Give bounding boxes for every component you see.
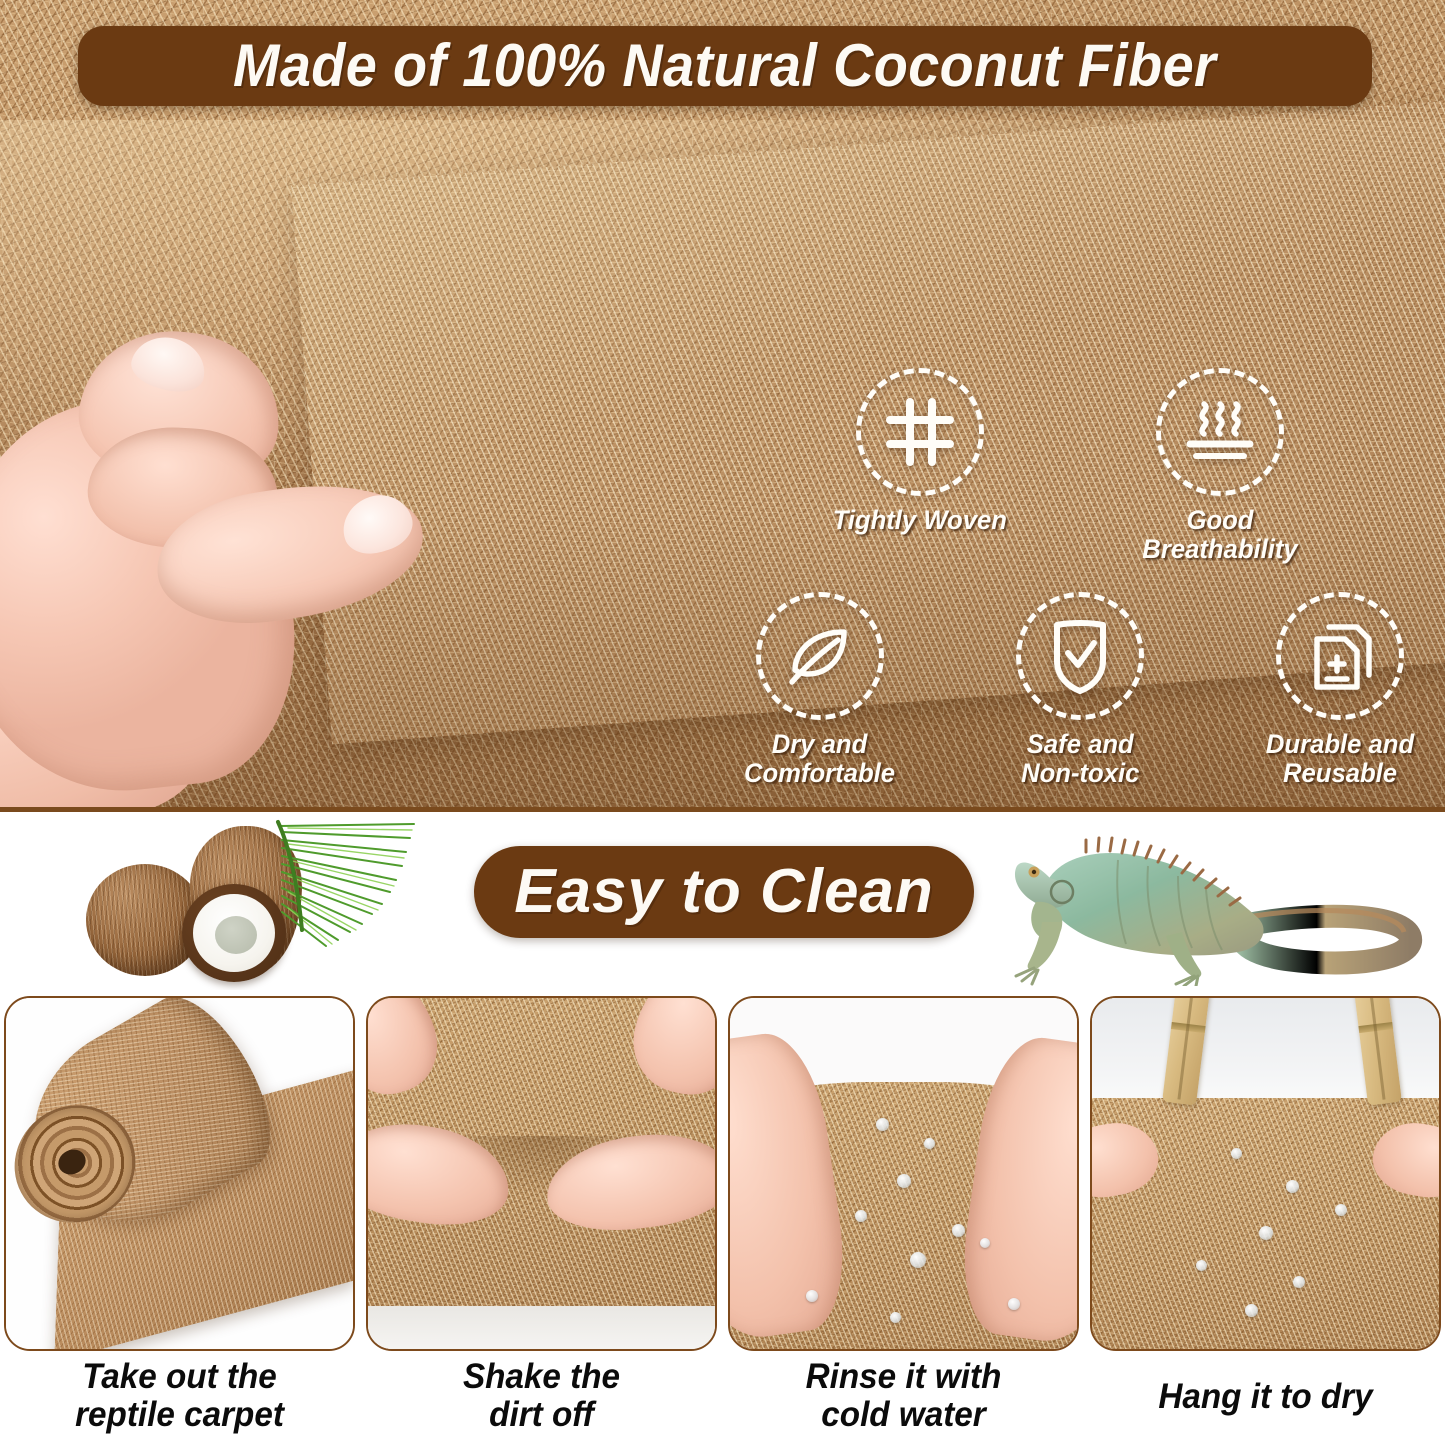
feature-label: Tightly Woven — [833, 506, 1007, 535]
mat-hung-with-clothespins-photo — [1090, 996, 1441, 1351]
iguana-tail — [1240, 916, 1411, 963]
easy-to-clean-title: Easy to Clean — [514, 861, 934, 923]
cleaning-steps-grid: Take out the reptile carpet Shake the di… — [0, 990, 1445, 1444]
grid-weave-icon — [884, 396, 956, 468]
step-card-hang-to-dry: Hang it to dry — [1090, 996, 1441, 1444]
step-caption: Shake the dirt off — [375, 1358, 708, 1434]
water-droplet — [1231, 1148, 1242, 1159]
water-droplet — [1335, 1204, 1347, 1216]
step-caption: Take out the reptile carpet — [13, 1358, 346, 1434]
iguana-front-toes — [1016, 968, 1038, 984]
step-caption: Hang it to dry — [1099, 1358, 1432, 1416]
easy-to-clean-banner: Easy to Clean — [474, 846, 974, 938]
water-droplet — [897, 1174, 911, 1188]
water-droplet — [1008, 1298, 1020, 1310]
coconuts-with-palm-frond-image — [78, 822, 408, 982]
halved-coconut — [182, 884, 286, 982]
step-card-take-out-carpet: Take out the reptile carpet — [4, 996, 355, 1444]
rolled-reptile-carpet-photo — [4, 996, 355, 1351]
feature-label: Good Breathability — [1125, 506, 1315, 563]
steam-lines-icon — [1182, 394, 1258, 470]
water-droplet — [855, 1210, 867, 1222]
white-tabletop — [366, 1306, 717, 1351]
water-droplet — [1245, 1304, 1258, 1317]
photo-background — [6, 998, 353, 1349]
hero-title-banner: Made of 100% Natural Coconut Fiber — [78, 26, 1372, 106]
water-droplet — [980, 1238, 990, 1248]
feature-badge-circle — [1016, 592, 1144, 720]
feature-badge-group: Tightly Woven — [690, 368, 1410, 798]
green-iguana-image — [990, 818, 1430, 986]
hero-section: Made of 100% Natural Coconut Fiber — [0, 0, 1445, 812]
coconut-water — [215, 916, 257, 954]
iguana-front-leg — [1028, 922, 1062, 970]
duplicate-document-plus-icon — [1303, 617, 1377, 695]
hands-rinsing-wet-mat-photo — [728, 996, 1079, 1351]
water-droplet — [876, 1118, 889, 1131]
water-droplet — [952, 1224, 965, 1237]
step-card-shake-dirt-off: Shake the dirt off — [366, 996, 717, 1444]
palm-frond-icon — [274, 818, 424, 958]
feature-badge-circle — [1276, 592, 1404, 720]
leaf-icon — [782, 618, 858, 694]
coconut-flesh — [193, 894, 275, 972]
step-caption: Rinse it with cold water — [737, 1358, 1070, 1434]
page-title: Made of 100% Natural Coconut Fiber — [233, 36, 1216, 96]
feature-badge-circle — [1156, 368, 1284, 496]
step-card-rinse-with-cold-water: Rinse it with cold water — [728, 996, 1079, 1444]
easy-to-clean-band: Easy to Clean — [0, 812, 1445, 990]
hands-shaking-mat-photo — [366, 996, 717, 1351]
feature-durable-and-reusable: Durable and Reusable — [1240, 592, 1440, 787]
feature-badge-circle — [856, 368, 984, 496]
feature-badge-circle — [756, 592, 884, 720]
shield-check-icon — [1043, 617, 1117, 695]
feature-tightly-woven: Tightly Woven — [820, 368, 1020, 535]
feature-label: Dry and Comfortable — [744, 730, 895, 787]
feature-dry-and-comfortable: Dry and Comfortable — [720, 592, 920, 787]
feature-label: Durable and Reusable — [1266, 730, 1414, 787]
infographic-page: Made of 100% Natural Coconut Fiber — [0, 0, 1445, 1444]
water-droplet — [1259, 1226, 1273, 1240]
feature-label: Safe and Non-toxic — [1021, 730, 1139, 787]
feature-good-breathability: Good Breathability — [1120, 368, 1320, 563]
iguana-rear-toes — [1176, 976, 1198, 986]
water-droplet — [890, 1312, 901, 1323]
feature-safe-and-non-toxic: Safe and Non-toxic — [980, 592, 1180, 787]
